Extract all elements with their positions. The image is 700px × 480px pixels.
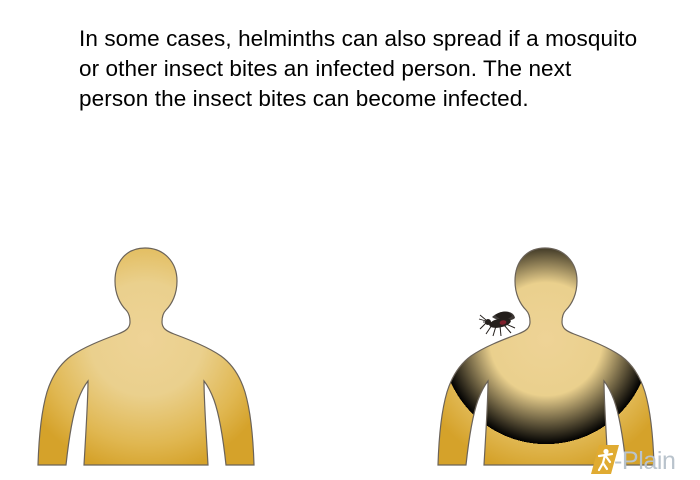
human-figures-graphic [0, 0, 700, 480]
mosquito-icon [479, 311, 515, 336]
figure-left-person [38, 248, 254, 465]
left-person-body [38, 248, 254, 465]
slide-canvas: In some cases, helminths can also spread… [0, 0, 700, 480]
figure-right-person [438, 248, 654, 465]
illustration-area [0, 0, 700, 480]
right-person-body [438, 248, 654, 465]
x-plain-logo: -Plain [586, 442, 696, 478]
x-plain-logo-text: -Plain [614, 447, 676, 476]
